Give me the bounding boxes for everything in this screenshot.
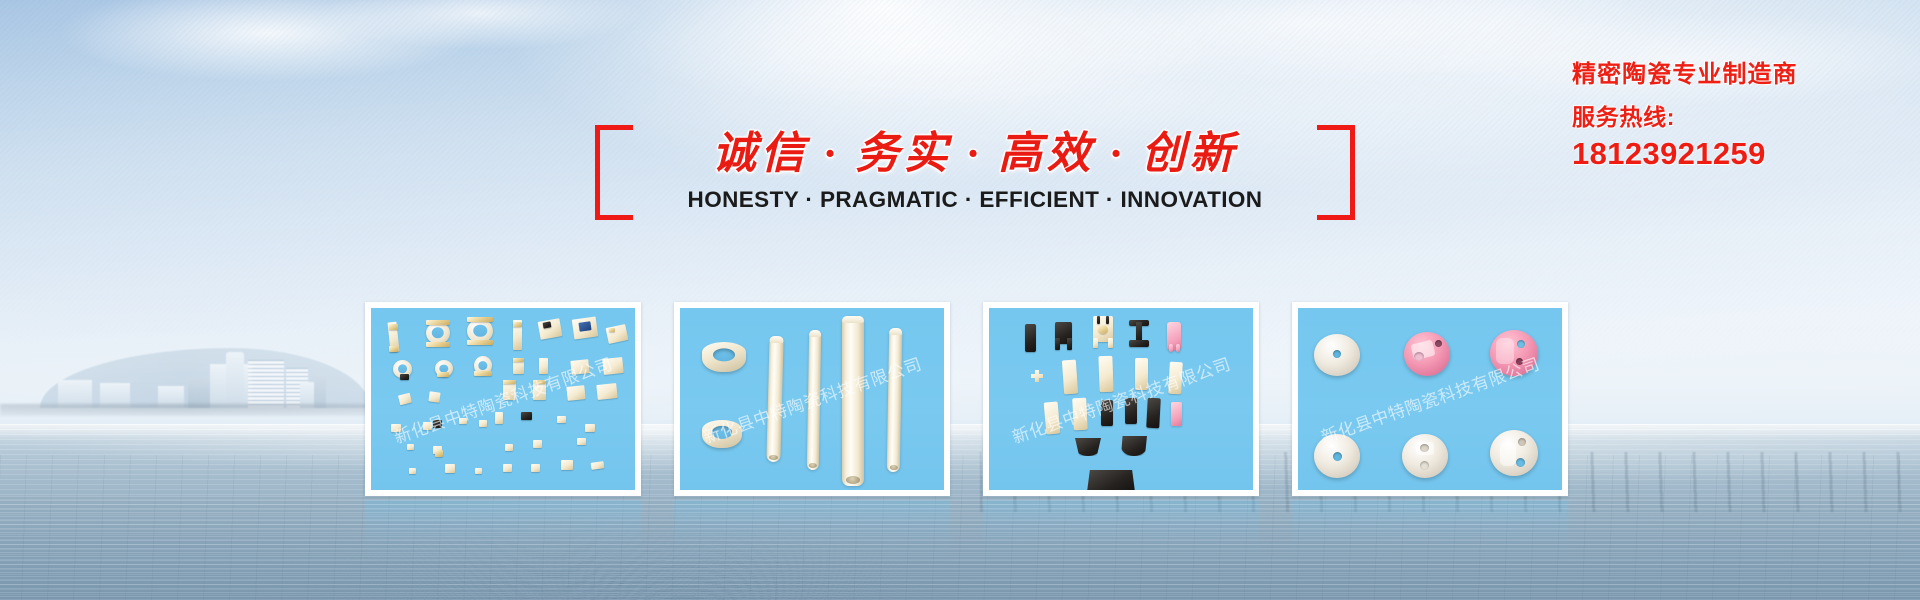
product-image-2: 新化县中特陶瓷科技有限公司 xyxy=(680,308,944,490)
hero-banner: 诚信 · 务实 · 高效 · 创新 HONESTY · PRAGMATIC · … xyxy=(0,0,1920,600)
contact-block: 精密陶瓷专业制造商 服务热线: 18123921259 xyxy=(1572,62,1902,171)
product-panel-3[interactable]: 新化县中特陶瓷科技有限公司 xyxy=(983,302,1259,496)
ceramic-tube xyxy=(842,316,864,486)
hotline-label: 服务热线: xyxy=(1572,104,1902,130)
ceramic-tube xyxy=(766,336,783,462)
ceramic-disc xyxy=(1314,434,1360,478)
ceramic-tube xyxy=(807,330,821,470)
panel-watermark: 新化县中特陶瓷科技有限公司 xyxy=(1008,350,1233,448)
product-image-4: 新化县中特陶瓷科技有限公司 xyxy=(1298,308,1562,490)
slogan-chinese: 诚信 · 务实 · 高效 · 创新 xyxy=(595,117,1355,181)
ceramic-disc xyxy=(1404,332,1450,376)
product-panel-row: 新化县中特陶瓷科技有限公司 新化县中特陶瓷科技有限公 xyxy=(365,302,1570,496)
product-panel-4[interactable]: 新化县中特陶瓷科技有限公司 xyxy=(1292,302,1568,496)
maker-tagline: 精密陶瓷专业制造商 xyxy=(1572,62,1902,88)
slogan-block: 诚信 · 务实 · 高效 · 创新 HONESTY · PRAGMATIC · … xyxy=(595,125,1355,230)
ceramic-disc xyxy=(1402,434,1448,478)
slogan-english: HONESTY · PRAGMATIC · EFFICIENT · INNOVA… xyxy=(595,187,1355,213)
ceramic-collar xyxy=(702,420,742,448)
ceramic-disc xyxy=(1490,430,1538,476)
product-panel-1[interactable]: 新化县中特陶瓷科技有限公司 xyxy=(365,302,641,496)
product-image-1: 新化县中特陶瓷科技有限公司 xyxy=(371,308,635,490)
ceramic-collar xyxy=(702,342,746,372)
hotline-number[interactable]: 18123921259 xyxy=(1572,137,1902,171)
ceramic-tube xyxy=(887,328,903,472)
product-panel-2[interactable]: 新化县中特陶瓷科技有限公司 xyxy=(674,302,950,496)
ceramic-disc xyxy=(1490,330,1538,376)
ceramic-disc xyxy=(1314,334,1360,376)
product-image-3: 新化县中特陶瓷科技有限公司 xyxy=(989,308,1253,490)
